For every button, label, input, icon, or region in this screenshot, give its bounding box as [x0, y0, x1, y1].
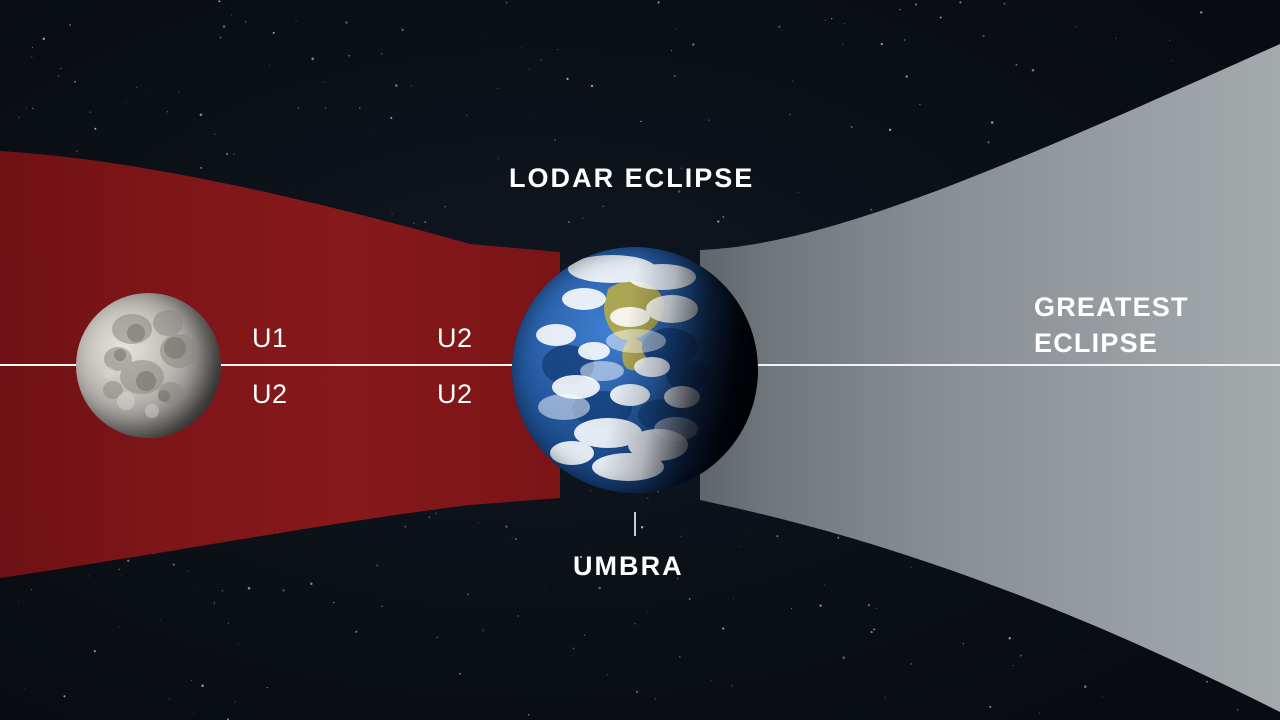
- greatest-eclipse-label: GREATESTECLIPSE: [1034, 289, 1189, 361]
- lunar-eclipse-title: LODAR ECLIPSE: [509, 163, 754, 194]
- contact-label-u2-lower-left: U2: [252, 379, 288, 410]
- moon-craters: [76, 293, 221, 438]
- moon-body: [76, 293, 221, 438]
- earth-body: [512, 247, 758, 493]
- lunar-eclipse-diagram: LODAR ECLIPSE U1 U2 U2 U2 UMBRA GREATEST…: [0, 0, 1280, 720]
- greatest-eclipse-line2: ECLIPSE: [1034, 328, 1158, 358]
- umbra-leader-line: [634, 512, 636, 536]
- umbra-label: UMBRA: [573, 551, 684, 582]
- earth-limb-shading: [512, 247, 758, 493]
- contact-label-u1-upper-left: U1: [252, 323, 288, 354]
- greatest-eclipse-line1: GREATEST: [1034, 292, 1189, 322]
- contact-label-u2-upper-right: U2: [437, 323, 473, 354]
- penumbra-region: [700, 44, 1280, 712]
- contact-label-u2-lower-right: U2: [437, 379, 473, 410]
